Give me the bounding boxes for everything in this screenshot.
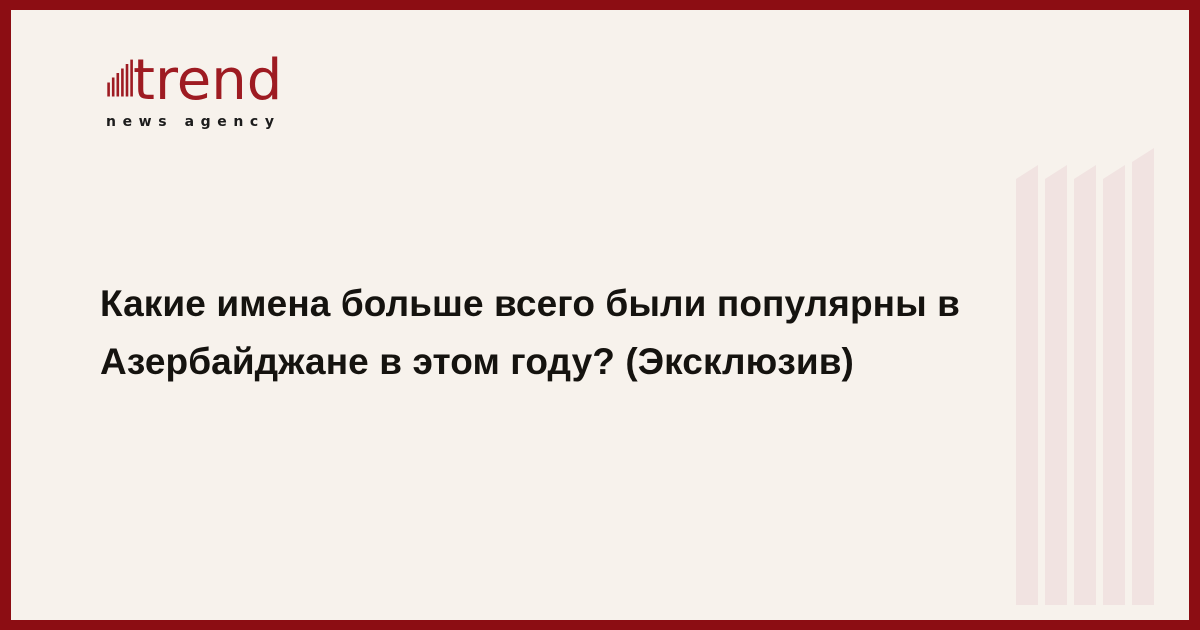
- logo-text: trend: [133, 49, 282, 111]
- logo-tagline: news agency: [106, 112, 281, 132]
- brand-logo[interactable]: trend news agency: [100, 49, 300, 141]
- page-title: Какие имена больше всего были популярны …: [100, 275, 1000, 391]
- social-share-card: trend news agency Какие имена больше все…: [0, 0, 1200, 630]
- logo-wordmark: trend: [100, 49, 300, 111]
- ascending-bars-watermark-icon: [1009, 10, 1189, 620]
